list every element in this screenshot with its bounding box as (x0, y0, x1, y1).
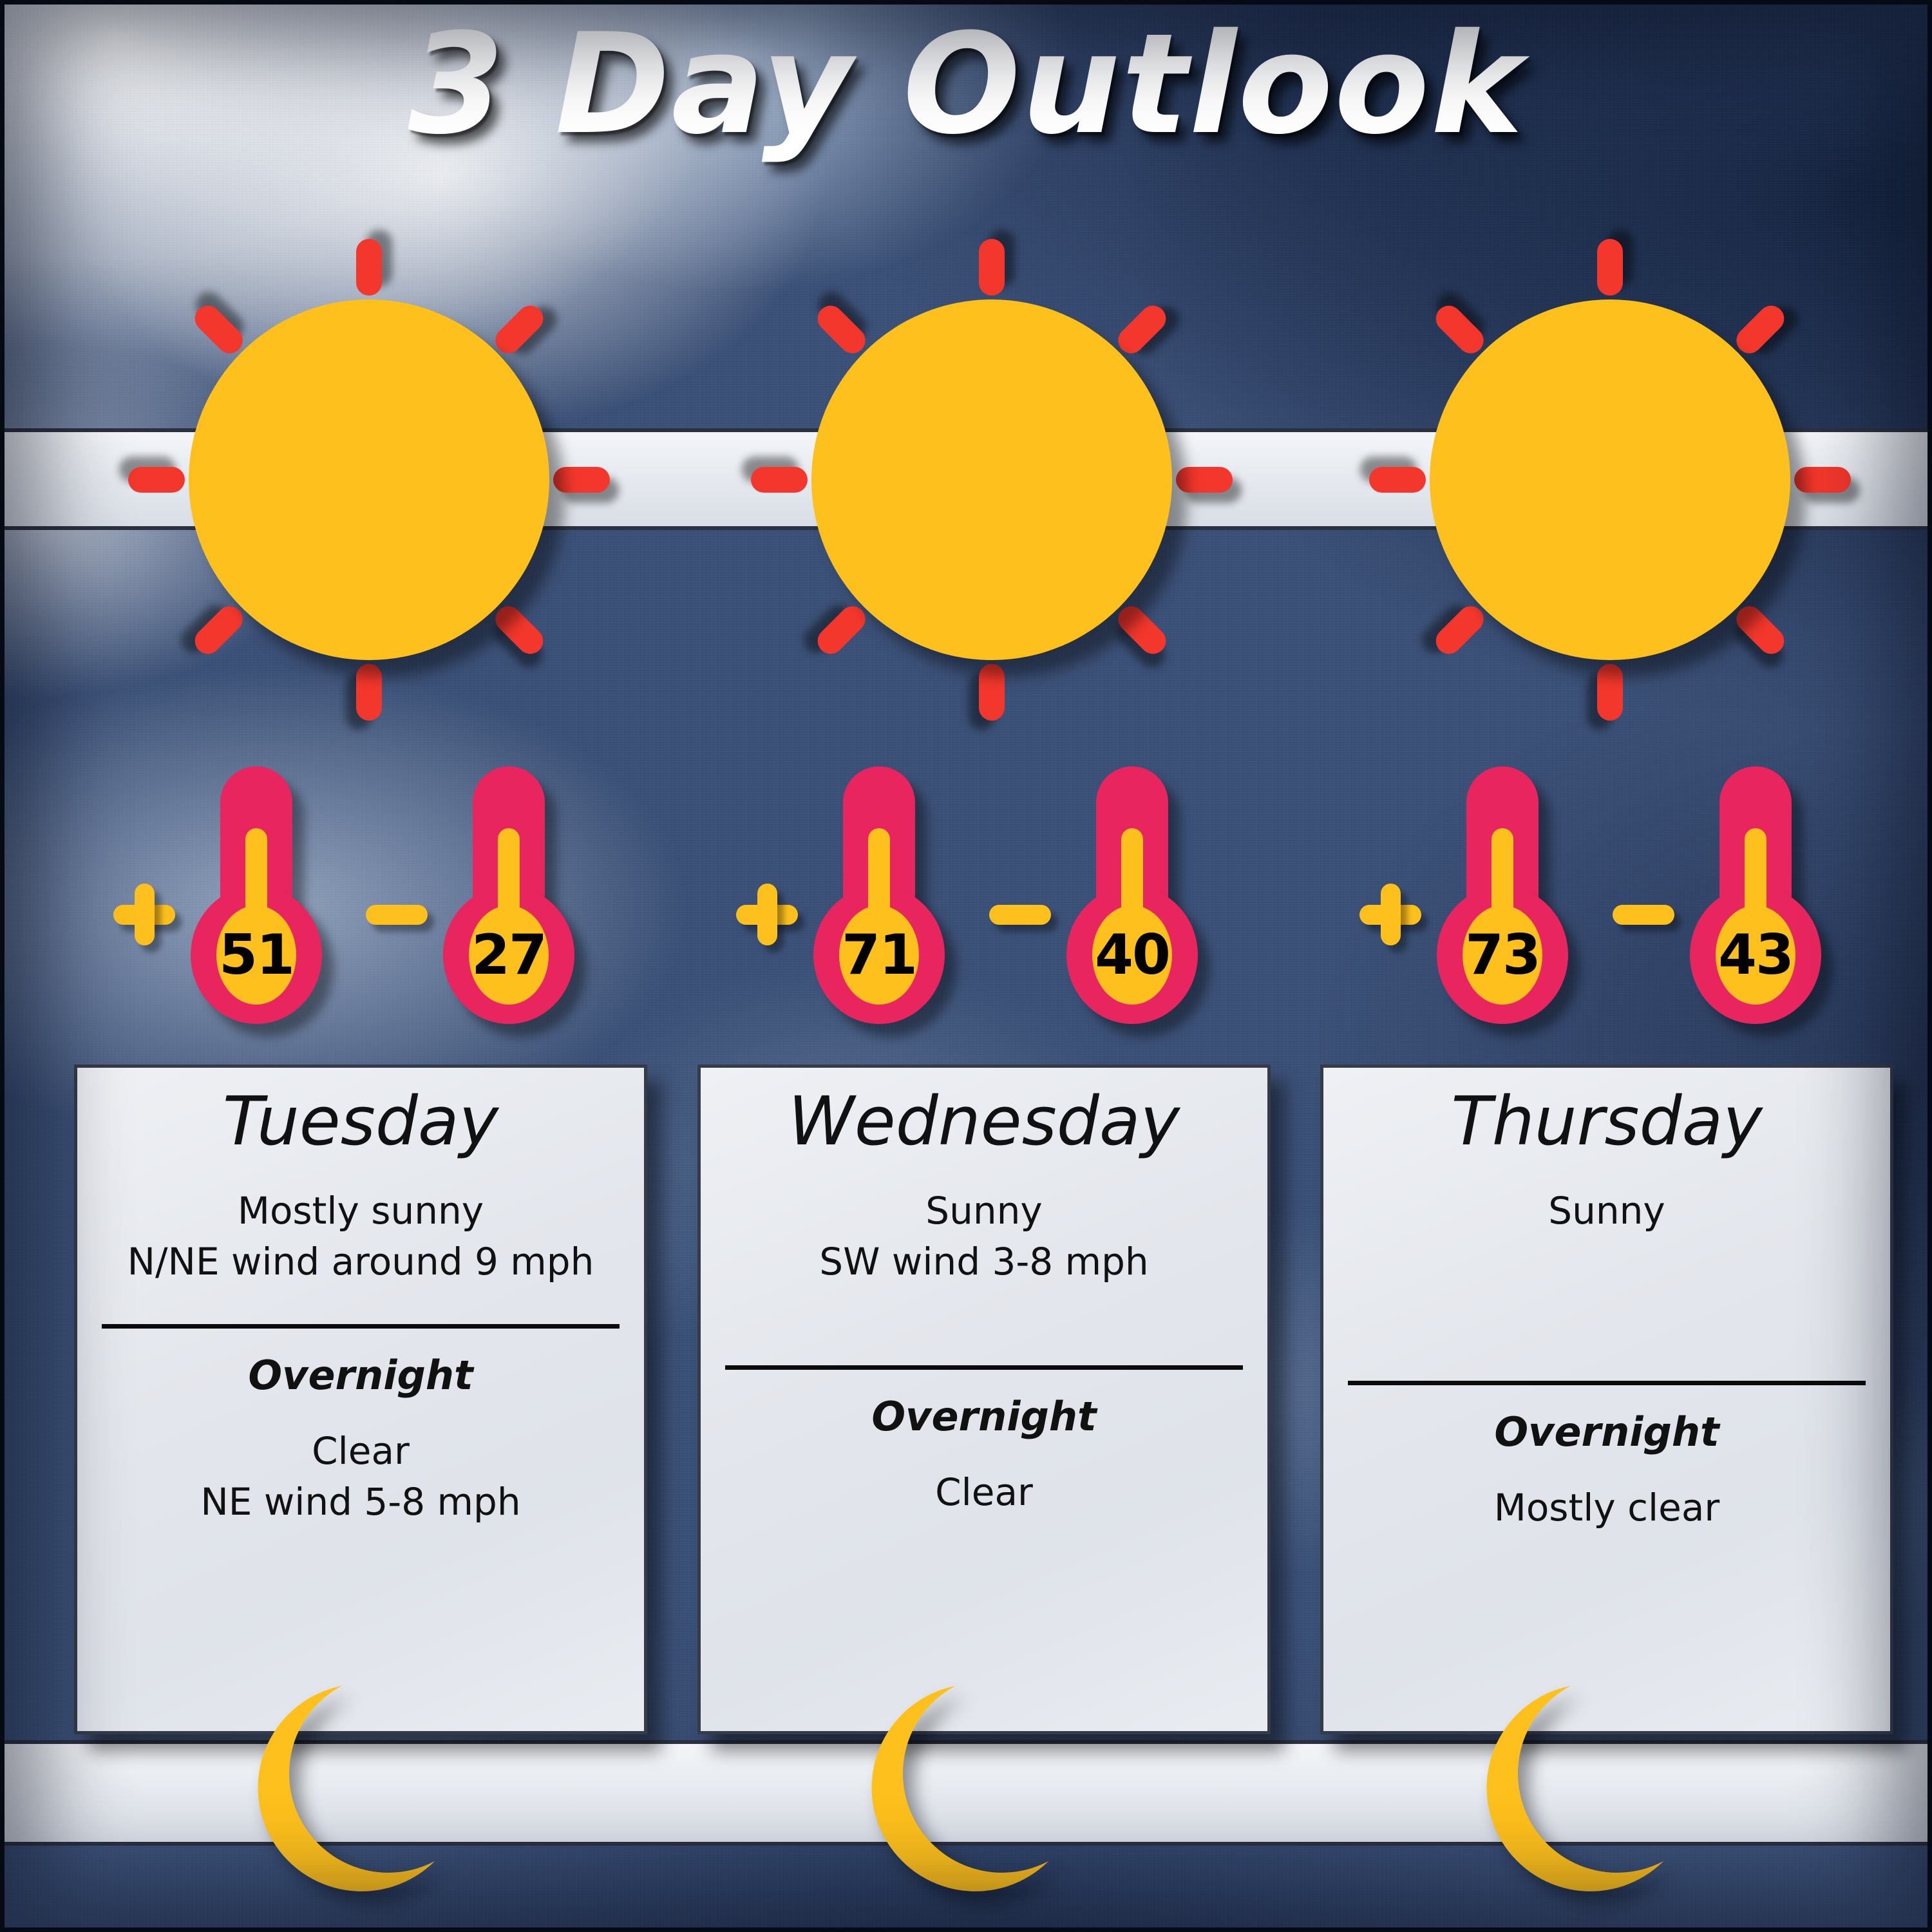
sun-ray (356, 664, 382, 721)
low-temperature-value: 43 (1716, 905, 1795, 1005)
overnight-label: Overnight (99, 1352, 622, 1399)
forecast-card[interactable]: TuesdayMostly sunnyN/NE wind around 9 mp… (74, 1065, 647, 1734)
forecast-card[interactable]: WednesdaySunnySW wind 3-8 mphOvernightCl… (697, 1065, 1271, 1734)
sun-ray (490, 601, 549, 659)
sun-disc (189, 299, 549, 660)
plus-sign-icon (113, 884, 175, 945)
sun-ray (1113, 300, 1171, 359)
low-temperature-value: 27 (469, 905, 549, 1005)
sun-ray (553, 467, 610, 493)
forecast-card[interactable]: ThursdaySunnyOvernightMostly clear (1320, 1065, 1893, 1734)
thermometer-high-icon: 71 (795, 766, 963, 1024)
sign-bar-horizontal (366, 905, 428, 925)
sun-ray (490, 300, 549, 359)
sun-ray (979, 664, 1005, 721)
sign-bar-vertical (135, 884, 155, 945)
condition-line: Sunny (723, 1186, 1245, 1236)
overnight-label: Overnight (1345, 1408, 1868, 1455)
sign-bar-vertical (757, 884, 777, 945)
condition-line: N/NE wind around 9 mph (99, 1236, 622, 1287)
high-temperature-value: 71 (839, 905, 919, 1005)
low-temperature-value: 40 (1092, 905, 1172, 1005)
overnight-label: Overnight (723, 1393, 1245, 1440)
condition-line: NE wind 5-8 mph (99, 1477, 622, 1528)
thermometer-low-icon: 43 (1672, 766, 1839, 1024)
sun-ray (1113, 601, 1171, 659)
high-temperature-value: 51 (216, 905, 296, 1005)
section-divider (725, 1365, 1243, 1370)
sun-ray (1369, 467, 1426, 493)
thermometer-low-icon: 40 (1048, 766, 1216, 1024)
day-conditions: Mostly sunnyN/NE wind around 9 mph (99, 1186, 622, 1287)
forecast-graphic: 3 Day Outlook 512771407343 TuesdayMostly… (0, 0, 1932, 1932)
condition-line: SW wind 3-8 mph (723, 1236, 1245, 1287)
sun-icon (1417, 287, 1803, 673)
thermometer-low-icon: 27 (425, 766, 592, 1024)
minus-sign-icon (366, 884, 428, 945)
sun-ray (812, 601, 871, 659)
sun-ray (812, 300, 871, 359)
sun-ray (1597, 664, 1623, 721)
sun-disc (1430, 299, 1790, 660)
sun-ray (1430, 300, 1489, 359)
sun-ray (751, 467, 808, 493)
sun-disc (811, 299, 1172, 660)
plus-sign-icon (1359, 884, 1421, 945)
minus-sign-icon (989, 884, 1051, 945)
section-divider (102, 1324, 620, 1329)
sun-icon (176, 287, 562, 673)
overnight-conditions: Mostly clear (1345, 1482, 1868, 1533)
overnight-conditions: ClearNE wind 5-8 mph (99, 1426, 622, 1528)
day-conditions: Sunny (1345, 1186, 1868, 1236)
crescent-moon-icon (232, 1684, 457, 1909)
crescent-moon-icon (846, 1684, 1071, 1909)
minus-sign-icon (1613, 884, 1674, 945)
sun-ray (189, 601, 248, 659)
sun-ray (1176, 467, 1233, 493)
sun-ray (1731, 300, 1790, 359)
sun-ray (1430, 601, 1489, 659)
sun-ray (1794, 467, 1851, 493)
sun-icon (799, 287, 1185, 673)
sign-bar-horizontal (1613, 905, 1674, 925)
high-temperature-value: 73 (1463, 905, 1542, 1005)
condition-line: Mostly clear (1345, 1482, 1868, 1533)
section-divider (1348, 1381, 1866, 1385)
sun-ray (356, 239, 382, 296)
sun-ray (1731, 601, 1790, 659)
crescent-moon-icon (1461, 1684, 1686, 1909)
sign-bar-horizontal (989, 905, 1051, 925)
thermometer-high-icon: 51 (173, 766, 340, 1024)
sun-ray (979, 239, 1005, 296)
overnight-conditions: Clear (723, 1467, 1245, 1518)
condition-line: Clear (99, 1426, 622, 1477)
condition-line: Sunny (1345, 1186, 1868, 1236)
sun-ray (128, 467, 185, 493)
day-name: Wednesday (723, 1082, 1245, 1161)
day-name: Thursday (1345, 1082, 1868, 1161)
day-conditions: SunnySW wind 3-8 mph (723, 1186, 1245, 1287)
sun-ray (1597, 239, 1623, 296)
day-name: Tuesday (99, 1082, 622, 1161)
thermometer-high-icon: 73 (1419, 766, 1586, 1024)
sun-ray (189, 300, 248, 359)
page-title: 3 Day Outlook (0, 12, 1932, 157)
sign-bar-vertical (1381, 884, 1401, 945)
condition-line: Clear (723, 1467, 1245, 1518)
plus-sign-icon (736, 884, 798, 945)
condition-line: Mostly sunny (99, 1186, 622, 1236)
